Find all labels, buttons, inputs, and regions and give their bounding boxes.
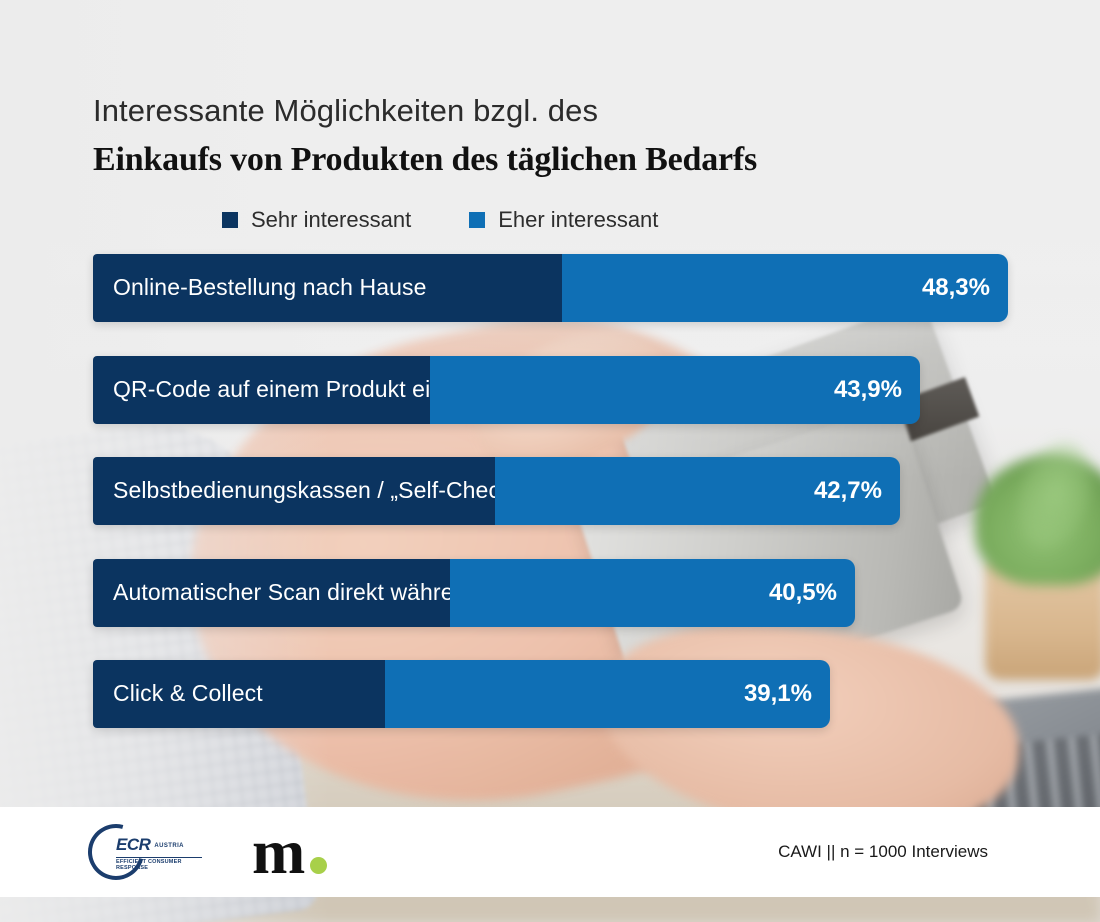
green-dot-icon <box>310 857 327 874</box>
ecr-wordmark: ECR <box>116 836 150 853</box>
bar-label: Online-Bestellung nach Hause <box>93 274 427 301</box>
infographic-content: Interessante Möglichkeiten bzgl. des Ein… <box>0 0 1100 233</box>
legend-item-eher-interessant: Eher interessant <box>469 207 658 233</box>
bar-segment-eher-interessant: 39,1% <box>385 660 830 728</box>
bar-segment-sehr-interessant: QR-Code auf einem Produkt einscannen <box>93 356 430 424</box>
bar-segment-eher-interessant: 40,5% <box>450 559 855 627</box>
bar-segment-sehr-interessant: Selbstbedienungskassen / „Self-Checkout" <box>93 457 495 525</box>
bar-value: 40,5% <box>769 579 855 607</box>
bar-row: QR-Code auf einem Produkt einscannen 43,… <box>93 356 920 424</box>
bar-row: Automatischer Scan direkt während dem Ei… <box>93 559 855 627</box>
ecr-region-label: AUSTRIA <box>154 843 183 849</box>
bar-segment-eher-interessant: 43,9% <box>430 356 920 424</box>
ecr-logo-text: ECRAUSTRIA EFFICIENT CONSUMER RESPONSE <box>116 836 202 871</box>
bar-row: Click & Collect 39,1% <box>93 660 830 728</box>
bar-value: 39,1% <box>744 680 830 708</box>
footer-bar: ECRAUSTRIA EFFICIENT CONSUMER RESPONSE m… <box>0 807 1100 897</box>
page-title: Interessante Möglichkeiten bzgl. des Ein… <box>0 0 1100 181</box>
m-wordmark: m <box>252 827 305 877</box>
legend-label: Eher interessant <box>498 207 658 233</box>
legend-label: Sehr interessant <box>251 207 411 233</box>
bar-value: 43,9% <box>834 376 920 404</box>
bar-label: Selbstbedienungskassen / „Self-Checkout" <box>93 477 552 504</box>
bar-row: Online-Bestellung nach Hause 48,3% <box>93 254 1008 322</box>
bar-row: Selbstbedienungskassen / „Self-Checkout"… <box>93 457 900 525</box>
marketagent-m-logo: m <box>252 827 327 877</box>
bar-segment-sehr-interessant: Automatischer Scan direkt während dem Ei… <box>93 559 450 627</box>
bar-segment-sehr-interessant: Click & Collect <box>93 660 385 728</box>
ecr-tagline: EFFICIENT CONSUMER RESPONSE <box>116 857 202 871</box>
bar-label: Click & Collect <box>93 680 263 707</box>
bar-segment-sehr-interessant: Online-Bestellung nach Hause <box>93 254 562 322</box>
square-swatch-icon <box>222 212 238 228</box>
square-swatch-icon <box>469 212 485 228</box>
legend-item-sehr-interessant: Sehr interessant <box>222 207 411 233</box>
title-subline: Interessante Möglichkeiten bzgl. des <box>93 92 1100 131</box>
bar-segment-eher-interessant: 48,3% <box>562 254 1008 322</box>
ecr-austria-logo: ECRAUSTRIA EFFICIENT CONSUMER RESPONSE <box>88 822 208 882</box>
title-main: Einkaufs von Produkten des täglichen Bed… <box>93 140 1100 181</box>
bar-value: 48,3% <box>922 274 1008 302</box>
methodology-note: CAWI || n = 1000 Interviews <box>778 842 988 862</box>
chart-legend: Sehr interessant Eher interessant <box>222 207 1100 233</box>
bar-value: 42,7% <box>814 477 900 505</box>
footer-logos: ECRAUSTRIA EFFICIENT CONSUMER RESPONSE m <box>88 822 327 882</box>
bar-segment-eher-interessant: 42,7% <box>495 457 900 525</box>
